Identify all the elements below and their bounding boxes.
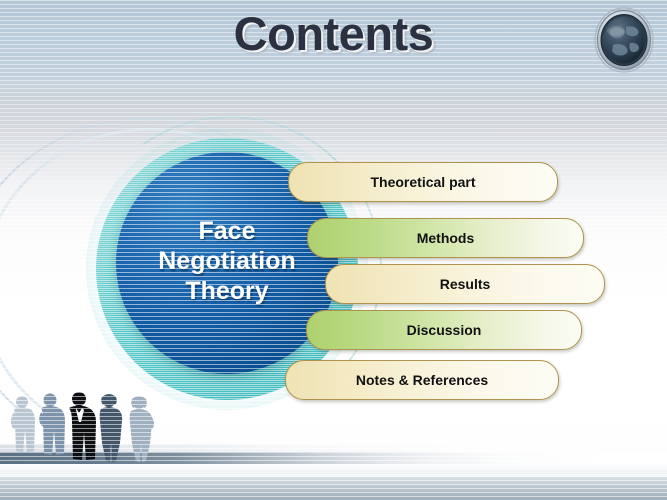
silhouette-person-5 [130, 396, 154, 462]
center-circle-label: Face Negotiation Theory [116, 216, 338, 306]
center-label-line-3: Theory [116, 276, 338, 306]
content-item-label: Notes & References [356, 372, 488, 388]
globe-icon [594, 7, 654, 73]
page-title: Contents [0, 6, 667, 61]
silhouette-person-2 [39, 394, 65, 456]
silhouette-person-1 [11, 396, 35, 452]
center-label-line-2: Negotiation [116, 246, 338, 276]
silhouette-person-4 [100, 394, 122, 462]
content-item-theoretical-part[interactable]: Theoretical part [288, 162, 558, 202]
floor-band [0, 477, 667, 500]
content-item-label: Discussion [407, 322, 482, 338]
silhouette-person-3 [69, 392, 96, 460]
content-item-discussion[interactable]: Discussion [306, 310, 582, 350]
content-item-label: Theoretical part [370, 174, 475, 190]
content-item-notes-references[interactable]: Notes & References [285, 360, 559, 400]
content-item-methods[interactable]: Methods [307, 218, 584, 258]
content-item-label: Methods [417, 230, 475, 246]
center-label-line-1: Face [116, 216, 338, 246]
content-item-results[interactable]: Results [325, 264, 605, 304]
business-people-silhouette [2, 388, 167, 480]
content-item-label: Results [440, 276, 491, 292]
presentation-slide: Contents [0, 0, 667, 500]
